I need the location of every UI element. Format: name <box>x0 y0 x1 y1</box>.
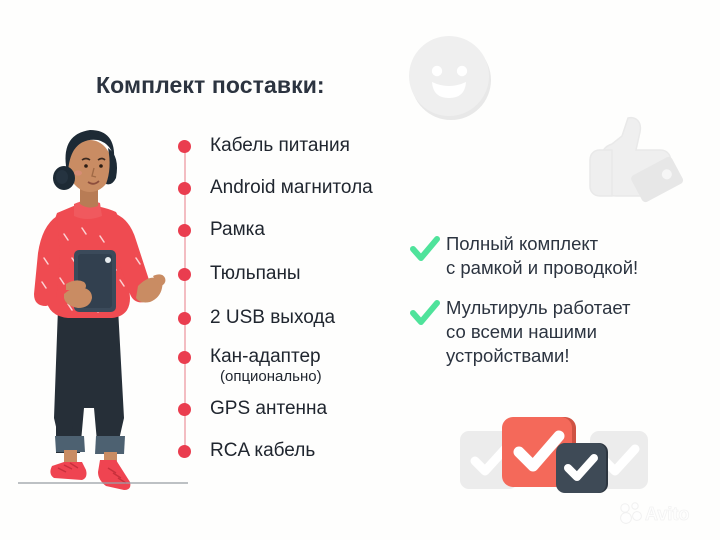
list-item: Рамка <box>178 216 448 246</box>
list-item: 2 USB выхода <box>178 304 448 334</box>
green-check-icon <box>410 300 440 328</box>
bullet-dot-icon <box>178 351 191 364</box>
list-item-label: Рамка <box>210 216 265 244</box>
avito-watermark: Avito <box>618 500 708 526</box>
smiley-face-icon <box>405 32 497 124</box>
feature-line-2: с рамкой и проводкой! <box>446 256 638 280</box>
checkbox-cards-icon <box>458 405 650 497</box>
thumbs-up-icon <box>578 110 694 224</box>
bullet-dot-icon <box>178 268 191 281</box>
page-title: Комплект поставки: <box>96 72 325 99</box>
green-check-icon <box>410 236 440 264</box>
feature-text: Мультируль работает со всеми нашими устр… <box>446 296 631 368</box>
bullet-dot-icon <box>178 445 191 458</box>
list-item-label: Тюльпаны <box>210 260 301 288</box>
woman-with-tablet-illustration <box>12 108 182 493</box>
list-item-sublabel: (опционально) <box>220 367 322 387</box>
bullet-dot-icon <box>178 224 191 237</box>
list-item-label: RCA кабель <box>210 437 315 465</box>
list-item: GPS антенна <box>178 395 448 425</box>
bullet-dot-icon <box>178 140 191 153</box>
ground-line <box>18 482 188 484</box>
list-item-label: Android магнитола <box>210 174 373 202</box>
feature-line-1: Мультируль работает <box>446 296 631 320</box>
feature-line-1: Полный комплект <box>446 232 638 256</box>
promo-image: Комплект поставки: Кабель питания Androi… <box>0 0 720 540</box>
list-item: Кабель питания <box>178 132 448 162</box>
bullet-dot-icon <box>178 182 191 195</box>
list-item: Кан-адаптер (опционально) <box>178 343 448 373</box>
list-item: Android магнитола <box>178 174 448 204</box>
avito-wordmark: Avito <box>645 504 689 524</box>
list-item-label: 2 USB выхода <box>210 304 335 332</box>
list-item: RCA кабель <box>178 437 448 467</box>
list-item: Тюльпаны <box>178 260 448 290</box>
list-item-label: GPS антенна <box>210 395 327 423</box>
bullet-dot-icon <box>178 312 191 325</box>
feature-text: Полный комплект с рамкой и проводкой! <box>446 232 638 280</box>
feature-line-2: со всеми нашими <box>446 320 631 344</box>
bullet-dot-icon <box>178 403 191 416</box>
feature-line-3: устройствами! <box>446 344 631 368</box>
list-item-label: Кабель питания <box>210 132 350 160</box>
